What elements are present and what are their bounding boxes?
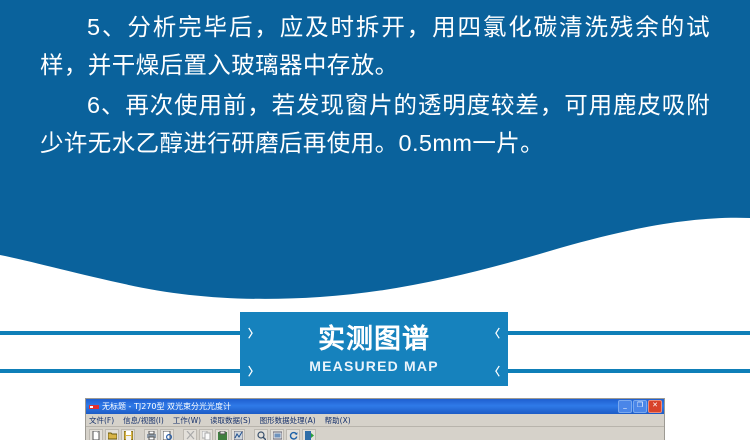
maximize-button[interactable]: ❐ — [633, 400, 647, 413]
app-logo-icon — [89, 402, 99, 412]
refresh-icon[interactable] — [286, 429, 300, 440]
new-file-icon[interactable] — [89, 429, 103, 440]
toolbar-separator — [137, 429, 142, 440]
print-preview-icon[interactable] — [160, 429, 174, 440]
scan-icon[interactable] — [270, 429, 284, 440]
divider-line-right-bottom — [506, 369, 750, 373]
app-titlebar: 无标题 - TJ270型 双光束分光光度计 _ ❐ ✕ — [86, 399, 664, 414]
instructions-text-block: 5、分析完毕后，应及时拆开，用四氯化碳清洗残余的试样，并干燥后置入玻璃器中存放。… — [0, 0, 750, 164]
menu-item-file[interactable]: 文件(F) — [89, 416, 114, 425]
section-title-en: MEASURED MAP — [309, 357, 439, 375]
menu-item-read-data[interactable]: 读取数据(S) — [210, 416, 251, 425]
open-folder-icon[interactable] — [105, 429, 119, 440]
section-banner: 〉 〉 〈 〈 实测图谱 MEASURED MAP — [240, 312, 508, 386]
app-menubar[interactable]: 文件(F) 信息/视图(I) 工作(W) 读取数据(S) 图形数据处理(A) 帮… — [86, 414, 664, 427]
bracket-right-top-icon: 〈 — [489, 328, 500, 339]
divider-line-left-top — [0, 331, 244, 335]
menu-item-graph-data[interactable]: 图形数据处理(A) — [260, 416, 316, 425]
menu-item-work[interactable]: 工作(W) — [173, 416, 201, 425]
instruction-item-6: 6、再次使用前，若发现窗片的透明度较差，可用鹿皮吸附少许无水乙醇进行研磨后再使用… — [40, 86, 710, 162]
copy-icon — [199, 429, 213, 440]
menu-item-info-view[interactable]: 信息/视图(I) — [123, 416, 164, 425]
zoom-icon[interactable] — [254, 429, 268, 440]
toolbar-separator — [176, 429, 181, 440]
bracket-left-top-icon: 〉 — [248, 328, 259, 339]
cut-icon — [183, 429, 197, 440]
print-icon[interactable] — [144, 429, 158, 440]
exit-icon[interactable] — [302, 429, 316, 440]
section-banner-band: 〉 〉 〈 〈 实测图谱 MEASURED MAP — [0, 310, 750, 388]
toolbar-separator — [247, 429, 252, 440]
product-detail-page: 5、分析完毕后，应及时拆开，用四氯化碳清洗残余的试样，并干燥后置入玻璃器中存放。… — [0, 0, 750, 440]
bracket-right-bottom-icon: 〈 — [489, 366, 500, 377]
section-title-cn: 实测图谱 — [318, 324, 430, 356]
save-disk-icon[interactable] — [121, 429, 135, 440]
instruction-item-5: 5、分析完毕后，应及时拆开，用四氯化碳清洗残余的试样，并干燥后置入玻璃器中存放。 — [40, 8, 710, 84]
minimize-button[interactable]: _ — [618, 400, 632, 413]
spectrophotometer-app-window: 无标题 - TJ270型 双光束分光光度计 _ ❐ ✕ 文件(F) 信息/视图(… — [85, 398, 665, 440]
window-controls[interactable]: _ ❐ ✕ — [618, 400, 662, 413]
chart-icon[interactable] — [231, 429, 245, 440]
divider-line-right-top — [506, 331, 750, 335]
app-toolbar[interactable] — [86, 427, 664, 440]
paste-icon[interactable] — [215, 429, 229, 440]
close-button[interactable]: ✕ — [648, 400, 662, 413]
divider-line-left-bottom — [0, 369, 244, 373]
menu-item-help[interactable]: 帮助(X) — [325, 416, 351, 425]
top-blue-panel: 5、分析完毕后，应及时拆开，用四氯化碳清洗残余的试样，并干燥后置入玻璃器中存放。… — [0, 0, 750, 300]
app-title-text: 无标题 - TJ270型 双光束分光光度计 — [102, 402, 618, 411]
bracket-left-bottom-icon: 〉 — [248, 366, 259, 377]
